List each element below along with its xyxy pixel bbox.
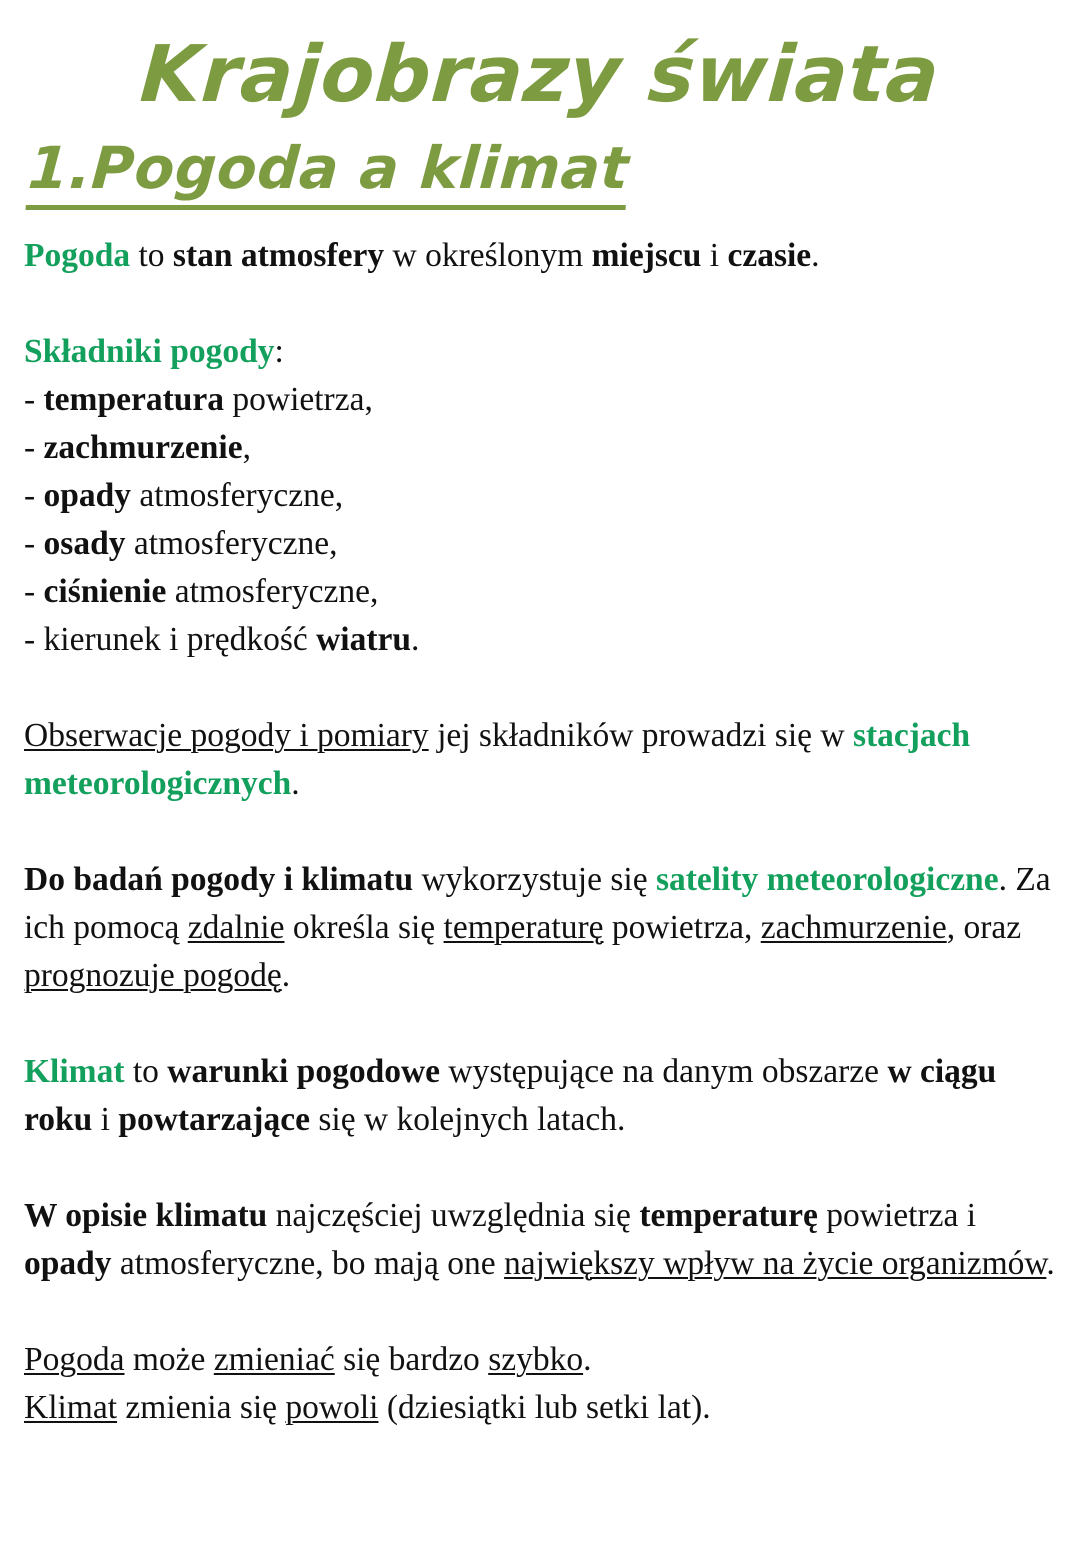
bold-w-opisie-klimatu: W opisie klimatu <box>24 1197 267 1234</box>
text: to <box>124 1053 167 1090</box>
bold-miejscu: miejscu <box>592 237 702 274</box>
list-item-rest: . <box>411 621 419 658</box>
list-item-bold: zachmurzenie <box>44 429 243 466</box>
bold-czasie: czasie <box>727 237 811 274</box>
dash: - <box>24 621 44 658</box>
text: najczęściej uwzględnia się <box>267 1197 639 1234</box>
spacer <box>22 808 1058 856</box>
underlined-najwiekszy-wplyw: największy wpływ na życie organizmów <box>504 1245 1046 1282</box>
text: . <box>282 957 290 994</box>
list-item: - zachmurzenie, <box>24 424 1058 472</box>
list-item-rest: atmosferyczne, <box>125 525 337 562</box>
text: atmosferyczne, bo mają one <box>112 1245 505 1282</box>
components-label: Składniki pogody: <box>24 328 1058 376</box>
text: . <box>702 1389 710 1426</box>
paragraph-satellites: Do badań pogody i klimatu wykorzystuje s… <box>24 856 1058 1000</box>
spacer <box>22 1288 1058 1336</box>
underlined-obserwacje: Obserwacje pogody i pomiary <box>24 717 429 754</box>
page-title: Krajobrazy świata <box>19 36 1060 114</box>
list-item-rest: , <box>243 429 251 466</box>
label-skladniki-pogody: Składniki pogody <box>24 333 274 370</box>
underlined-klimat: Klimat <box>24 1389 117 1426</box>
list-item-bold: temperatura <box>44 381 224 418</box>
underlined-pogoda: Pogoda <box>24 1341 125 1378</box>
text: . <box>1046 1245 1054 1282</box>
dash: - <box>24 381 44 418</box>
text: wykorzystuje się <box>413 861 656 898</box>
bold-warunki-pogodowe: warunki pogodowe <box>167 1053 440 1090</box>
section-heading: 1.Pogoda a klimat <box>25 138 630 210</box>
list-item-bold: osady <box>44 525 126 562</box>
paragraph-pogoda-change: Pogoda może zmieniać się bardzo szybko. <box>24 1336 1058 1384</box>
bold-do-badan: Do badań pogody i klimatu <box>24 861 413 898</box>
spacer <box>22 1144 1058 1192</box>
list-item: - ciśnienie atmosferyczne, <box>24 568 1058 616</box>
underlined-szybko: szybko <box>488 1341 583 1378</box>
underlined-prognozuje-pogode: prognozuje pogodę <box>24 957 282 994</box>
spacer <box>22 1000 1058 1048</box>
colon: : <box>274 333 283 370</box>
paragraph-definition-pogoda: Pogoda to stan atmosfery w określonym mi… <box>24 232 1058 280</box>
text: występujące na danym obszarze <box>440 1053 887 1090</box>
paragraph-klimat-change: Klimat zmienia się powoli (dziesiątki lu… <box>24 1384 1058 1432</box>
term-klimat: Klimat <box>24 1053 124 1090</box>
bold-opady: opady <box>24 1245 112 1282</box>
text: się bardzo <box>335 1341 488 1378</box>
list-item-rest: powietrza, <box>224 381 373 418</box>
document-page: Krajobrazy świata 1.Pogoda a klimat Pogo… <box>0 36 1080 1563</box>
bold-powtarzajace: powtarzające <box>118 1101 310 1138</box>
text: określa się <box>284 909 443 946</box>
bold-temperature: temperaturę <box>639 1197 818 1234</box>
paragraph-observations: Obserwacje pogody i pomiary jej składnik… <box>24 712 1058 808</box>
dash: - <box>24 525 44 562</box>
list-item: - temperatura powietrza, <box>24 376 1058 424</box>
paragraph-definition-klimat: Klimat to warunki pogodowe występujące n… <box>24 1048 1058 1144</box>
underlined-zmieniac: zmieniać <box>214 1341 335 1378</box>
text: zmienia się <box>117 1389 285 1426</box>
list-item: - osady atmosferyczne, <box>24 520 1058 568</box>
list-item-bold: ciśnienie <box>44 573 167 610</box>
underlined-temperature: temperaturę <box>444 909 604 946</box>
text: powietrza, <box>604 909 761 946</box>
spacer <box>22 210 1058 232</box>
green-satelity-meteorologiczne: satelity meteorologiczne <box>656 861 999 898</box>
dash: - <box>24 573 44 610</box>
list-item: - opady atmosferyczne, <box>24 472 1058 520</box>
dash: - <box>24 477 44 514</box>
list-item-plain: kierunek i prędkość <box>44 621 317 658</box>
text: (dziesiątki lub setki lat) <box>378 1389 702 1426</box>
text: i <box>92 1101 118 1138</box>
text: jej składników prowadzi się w <box>429 717 853 754</box>
underlined-zdalnie: zdalnie <box>188 909 285 946</box>
text: może <box>125 1341 214 1378</box>
text: to <box>130 237 173 274</box>
bold-stan-atmosfery: stan atmosfery <box>173 237 384 274</box>
list-item-bold: opady <box>44 477 132 514</box>
text: . <box>811 237 819 274</box>
underlined-powoli: powoli <box>285 1389 378 1426</box>
text: . <box>617 1101 625 1138</box>
spacer <box>22 280 1058 328</box>
list-item-bold: wiatru <box>316 621 411 658</box>
dash: - <box>24 429 44 466</box>
text: powietrza i <box>818 1197 976 1234</box>
paragraph-climate-description: W opisie klimatu najczęściej uwzględnia … <box>24 1192 1058 1288</box>
text: . <box>583 1341 591 1378</box>
text: , oraz <box>947 909 1021 946</box>
list-item: - kierunek i prędkość wiatru. <box>24 616 1058 664</box>
text: się w kolejnych latach <box>310 1101 617 1138</box>
text: . <box>291 765 299 802</box>
section-heading-wrapper: 1.Pogoda a klimat <box>24 114 1058 210</box>
list-item-rest: atmosferyczne, <box>166 573 378 610</box>
list-item-rest: atmosferyczne, <box>131 477 343 514</box>
spacer <box>22 664 1058 712</box>
text: w określonym <box>384 237 592 274</box>
term-pogoda: Pogoda <box>24 237 130 274</box>
text: i <box>701 237 727 274</box>
underlined-zachmurzenie: zachmurzenie <box>761 909 947 946</box>
